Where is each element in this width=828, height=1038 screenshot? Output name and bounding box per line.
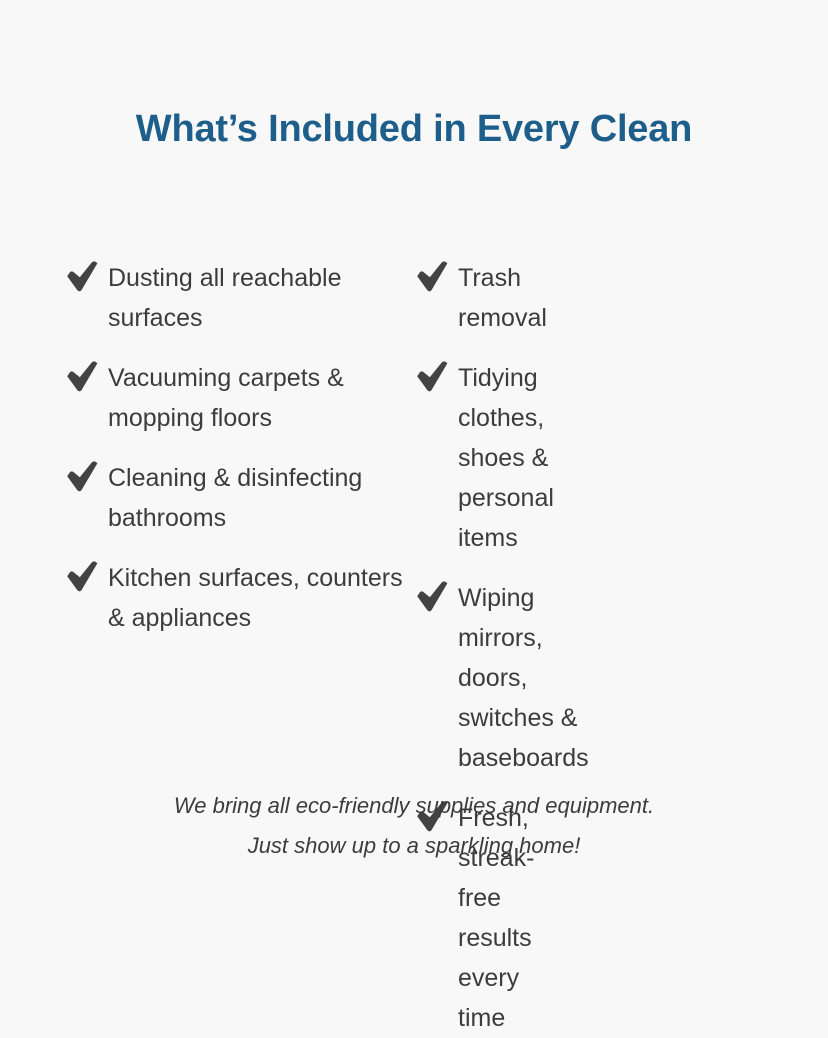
- features-list: Dusting all reachable surfaces Vacuuming…: [0, 258, 828, 1038]
- checkmark-icon: [64, 460, 108, 494]
- footer-note-line-2: Just show up to a sparkling home!: [34, 826, 794, 866]
- included-in-every-clean-section: What’s Included in Every Clean Dusting a…: [0, 0, 828, 941]
- checkmark-icon: [414, 580, 458, 614]
- list-item-label: Trash removal: [458, 258, 547, 338]
- checkmark-icon: [414, 360, 458, 394]
- list-item-label: Wiping mirrors, doors, switches & basebo…: [458, 578, 589, 778]
- footer-note: We bring all eco-friendly supplies and e…: [34, 786, 794, 866]
- checkmark-icon: [414, 260, 458, 294]
- checkmark-icon: [64, 260, 108, 294]
- footer-note-line-1: We bring all eco-friendly supplies and e…: [34, 786, 794, 826]
- page-title: What’s Included in Every Clean: [64, 100, 764, 158]
- checkmark-icon: [64, 360, 108, 394]
- checkmark-icon: [64, 560, 108, 594]
- list-item-label: Tidying clothes, shoes & personal items: [458, 358, 554, 558]
